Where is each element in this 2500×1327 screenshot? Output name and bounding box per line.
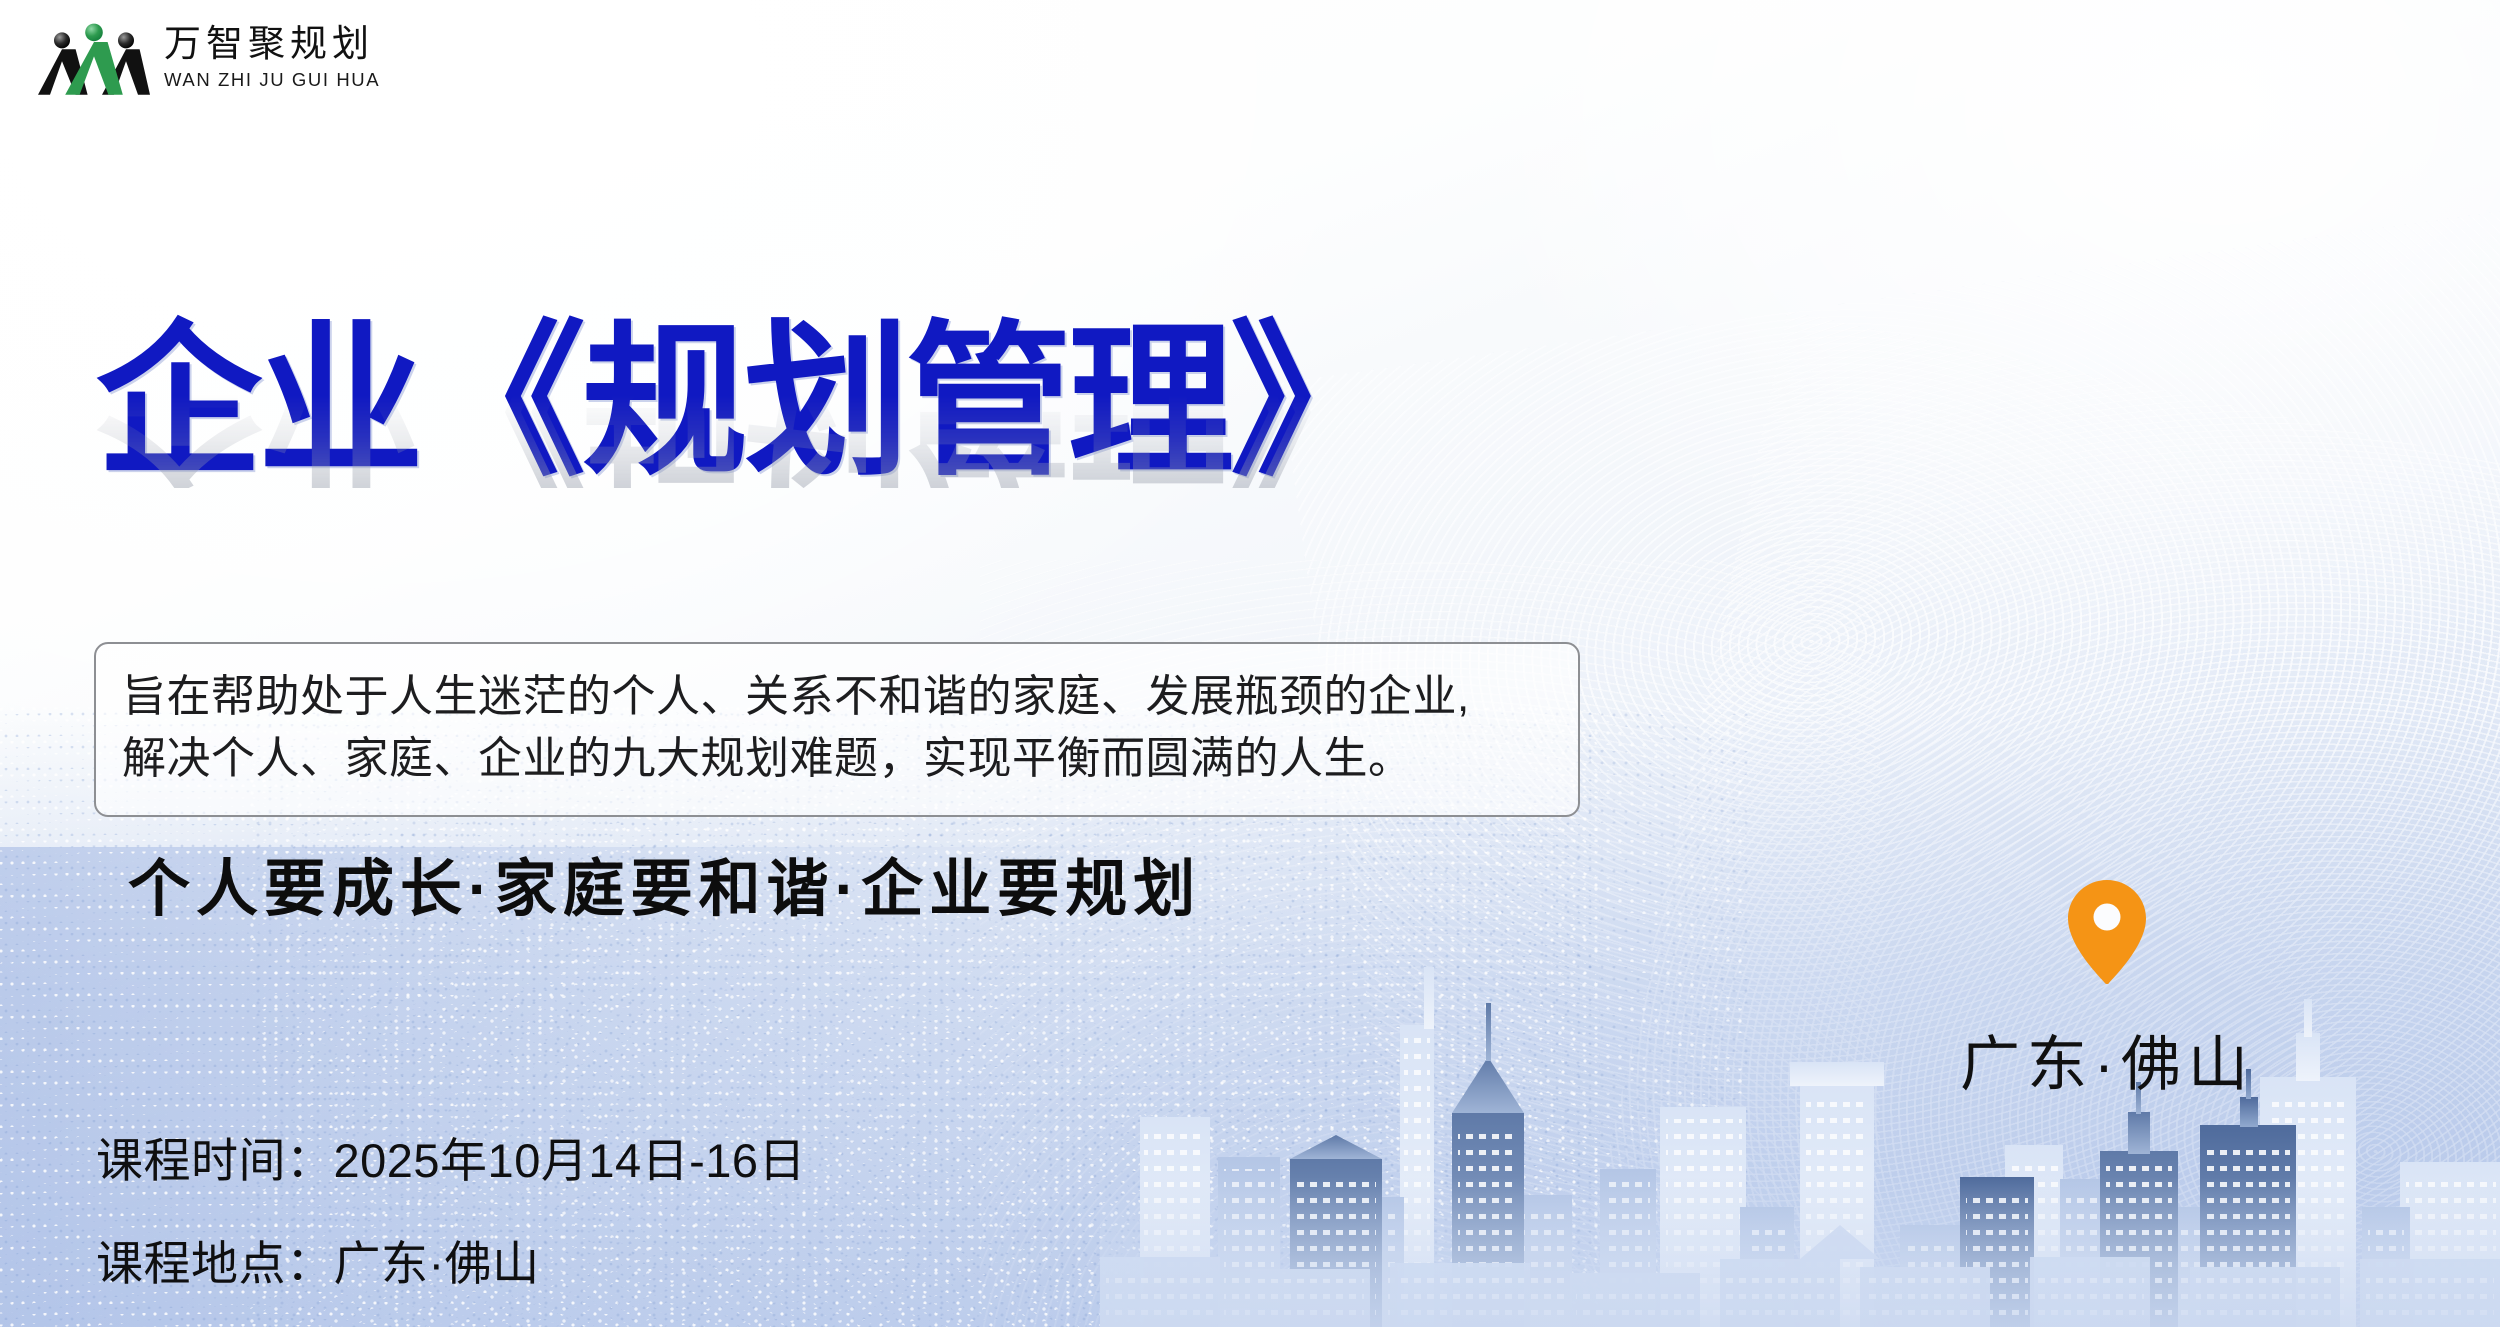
description-box: 旨在帮助处于人生迷茫的个人、关系不和谐的家庭、发展瓶颈的企业, 解决个人、家庭、… [94, 642, 1580, 817]
course-place-line: 课程地点：广东·佛山 [96, 1225, 806, 1294]
brand-logo: 万智聚规划 WAN ZHI JU GUI HUA [38, 18, 380, 98]
page-title-reflection: 企业《规划管理》 [96, 368, 1392, 488]
brand-text: 万智聚规划 WAN ZHI JU GUI HUA [164, 26, 380, 90]
description-line-1: 旨在帮助处于人生迷茫的个人、关系不和谐的家庭、发展瓶颈的企业, [122, 666, 1552, 728]
brand-name-cn: 万智聚规划 [164, 26, 380, 63]
location-label: 广东·佛山 [1960, 1016, 2255, 1103]
course-date-line: 课程时间：2025年10月14日-16日 [96, 1122, 806, 1191]
three-people-logo-icon [38, 18, 150, 98]
map-pin-icon [2065, 878, 2149, 986]
course-info: 课程时间：2025年10月14日-16日 课程地点：广东·佛山 [96, 1122, 806, 1294]
hero-slogan: 个人要成长·家庭要和谐·企业要规划 [128, 838, 1201, 928]
brand-name-pinyin: WAN ZHI JU GUI HUA [164, 71, 380, 90]
location-block: 广东·佛山 [1960, 878, 2255, 1103]
hero-title-block: 企业《规划管理》 企业《规划管理》 [96, 320, 1392, 608]
description-line-2: 解决个人、家庭、企业的九大规划难题，实现平衡而圆满的人生。 [122, 728, 1552, 790]
glow-top-right [1500, 0, 2500, 650]
poster-canvas: 万智聚规划 WAN ZHI JU GUI HUA 企业《规划管理》 企业《规划管… [0, 0, 2500, 1327]
city-skyline-illustration [1100, 907, 2500, 1327]
